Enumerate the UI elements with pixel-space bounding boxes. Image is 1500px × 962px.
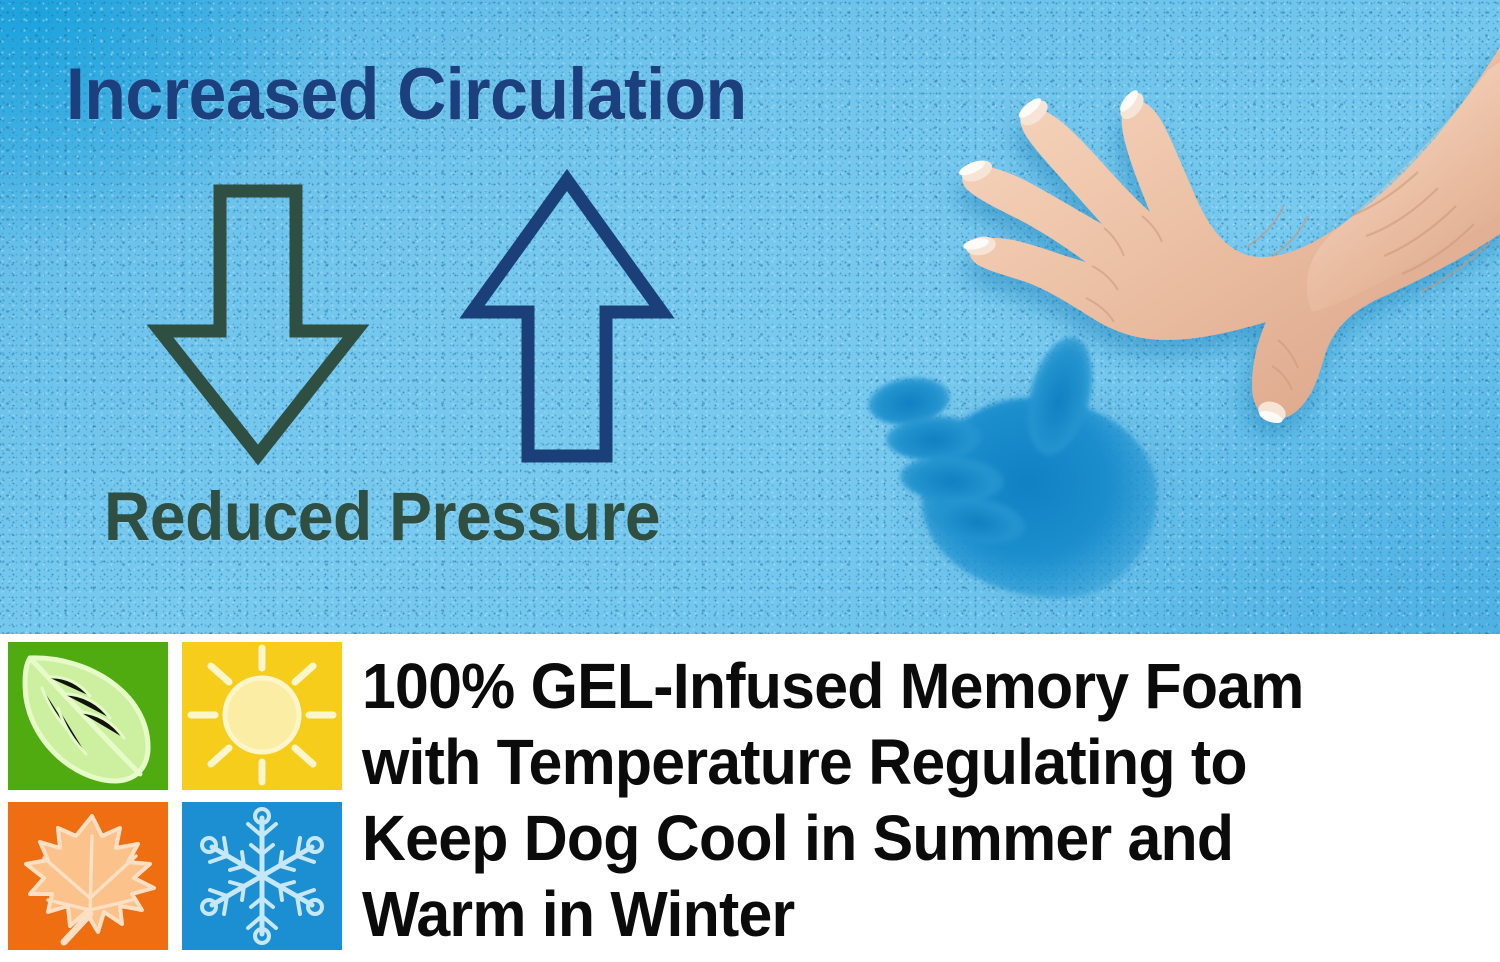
reduced-pressure-label: Reduced Pressure — [104, 482, 660, 551]
tile-autumn-maple-leaf — [8, 802, 168, 950]
leaf-icon — [8, 642, 168, 790]
season-icon-grid — [8, 642, 342, 954]
maple-leaf-icon — [8, 802, 168, 950]
down-arrow-icon — [150, 185, 366, 463]
tile-winter-snowflake — [182, 802, 342, 950]
tile-spring-leaf — [8, 642, 168, 790]
product-tagline: 100% GEL-Infused Memory Foam with Temper… — [362, 648, 1436, 953]
tagline-line-3: Keep Dog Cool in Summer and — [362, 800, 1436, 876]
sun-icon — [182, 642, 342, 790]
up-arrow-icon — [464, 172, 670, 464]
tagline-line-1: 100% GEL-Infused Memory Foam — [362, 648, 1436, 724]
tagline-line-2: with Temperature Regulating to — [362, 724, 1436, 800]
feature-graphic: Increased Circulation Reduced Pressure — [0, 0, 1500, 962]
tagline-line-4: Warm in Winter — [362, 876, 1436, 952]
tile-summer-sun — [182, 642, 342, 790]
snowflake-icon — [182, 802, 342, 950]
feature-caption-band: 100% GEL-Infused Memory Foam with Temper… — [0, 634, 1500, 962]
hand-photo — [880, 40, 1500, 470]
foam-photo-panel: Increased Circulation Reduced Pressure — [0, 0, 1500, 634]
increased-circulation-label: Increased Circulation — [66, 58, 747, 131]
